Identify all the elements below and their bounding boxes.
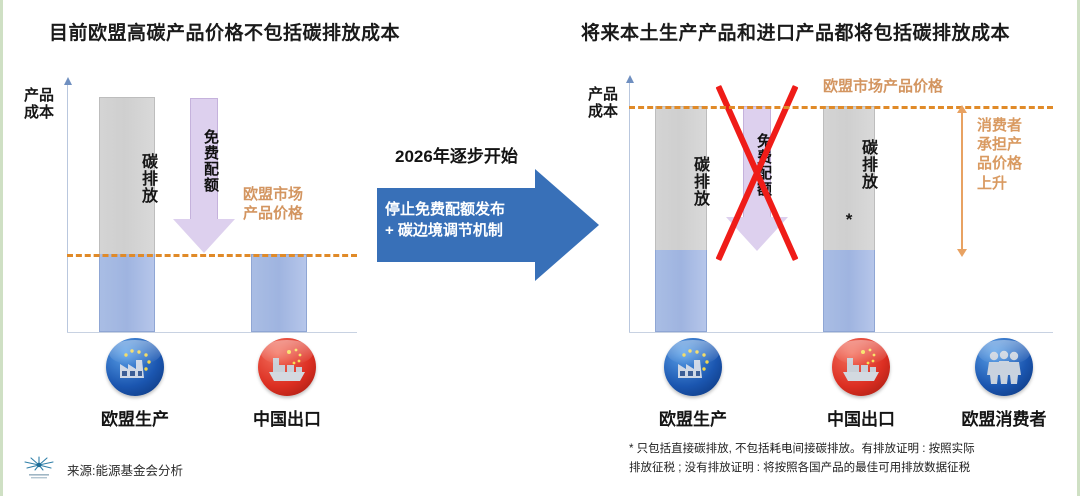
consumer-burden-note: 消费者 承担产 品价格 上升	[977, 116, 1022, 193]
left-category-eu-production: 欧盟生产	[87, 338, 183, 430]
china-ship-icon	[832, 338, 890, 396]
left-bar-china-export	[251, 254, 307, 332]
icon-gloss	[109, 340, 160, 364]
left-bar-eu-carbon-label: 碳排放	[99, 97, 155, 254]
transition-arrow: 停止免费配额发布 + 碳边境调节机制	[377, 169, 599, 281]
left-bar-china-price-segment	[251, 254, 307, 332]
left-y-axis	[67, 84, 68, 333]
right-category-eu-production: 欧盟生产	[645, 338, 741, 430]
left-allowance-label: 免费配额	[190, 102, 218, 220]
china-ship-icon	[258, 338, 316, 396]
right-bar-china-footnote-star: *	[823, 210, 875, 230]
left-category-label-eu: 欧盟生产	[87, 405, 183, 430]
right-free-allowance-arrow-cancelled: 免费配额	[726, 106, 788, 251]
left-free-allowance-arrow: 免费配额	[173, 98, 235, 253]
energy-foundation-logo	[19, 456, 59, 482]
consumers-icon	[975, 338, 1033, 396]
right-y-axis-label: 产品 成本	[585, 87, 621, 121]
right-bar-china-carbon-label: 碳排放	[823, 106, 875, 216]
left-x-axis	[67, 332, 357, 333]
left-category-label-china: 中国出口	[239, 405, 335, 430]
right-allowance-label: 免费配额	[743, 110, 771, 220]
right-allowance-arrowhead	[726, 217, 788, 251]
right-category-china-export: 中国出口	[813, 338, 909, 430]
right-price-line-label: 欧盟市场产品价格	[823, 78, 943, 97]
right-bar-eu-carbon-label: 碳排放	[655, 106, 707, 250]
footnote-text: * 只包括直接碳排放, 不包括耗电间接碳排放。有排放证明 : 按照实际 排放征税…	[629, 440, 1059, 477]
right-bar-eu-production: 碳排放	[655, 106, 707, 332]
left-chart: 产品 成本 碳排放 免费配额 欧盟市场 产品价格	[21, 78, 366, 333]
eu-factory-icon	[664, 338, 722, 396]
left-category-china-export: 中国出口	[239, 338, 335, 430]
eu-factory-icon	[106, 338, 164, 396]
transition-caption: 2026年逐步开始	[395, 142, 518, 167]
right-category-label-china: 中国出口	[813, 405, 909, 430]
right-category-eu-consumers: 欧盟消费者	[949, 338, 1059, 430]
right-category-label-consumers: 欧盟消费者	[949, 405, 1059, 430]
source-attribution: 来源:能源基金会分析	[19, 456, 183, 482]
right-category-label-eu: 欧盟生产	[645, 405, 741, 430]
left-bar-eu-production: 碳排放	[99, 97, 155, 332]
source-text: 来源:能源基金会分析	[67, 460, 183, 479]
right-price-reference-line	[629, 106, 1053, 109]
transition-arrow-text: 停止免费配额发布 + 碳边境调节机制	[385, 199, 557, 242]
left-bar-eu-price-segment	[99, 254, 155, 332]
left-allowance-arrowhead	[173, 219, 235, 253]
right-bar-eu-price-segment	[655, 250, 707, 332]
icon-gloss	[261, 340, 312, 364]
consumer-burden-arrow	[961, 112, 963, 250]
icon-gloss	[978, 340, 1029, 364]
left-panel-title: 目前欧盟高碳产品价格不包括碳排放成本	[49, 18, 400, 45]
right-bar-china-price-segment	[823, 250, 875, 332]
slide-canvas: 目前欧盟高碳产品价格不包括碳排放成本 将来本土生产产品和进口产品都将包括碳排放成…	[0, 0, 1080, 496]
right-y-axis	[629, 82, 630, 333]
icon-gloss	[667, 340, 718, 364]
icon-gloss	[835, 340, 886, 364]
right-chart: 产品 成本 碳排放 免费配额 碳排放 * 欧盟市场产品价格	[585, 60, 1065, 333]
left-y-axis-label: 产品 成本	[21, 88, 57, 122]
left-price-line-label: 欧盟市场 产品价格	[243, 186, 303, 224]
right-panel-title: 将来本土生产产品和进口产品都将包括碳排放成本	[581, 18, 1010, 45]
right-x-axis	[629, 332, 1053, 333]
left-price-reference-line	[67, 254, 357, 257]
right-bar-china-export: 碳排放 *	[823, 106, 875, 332]
